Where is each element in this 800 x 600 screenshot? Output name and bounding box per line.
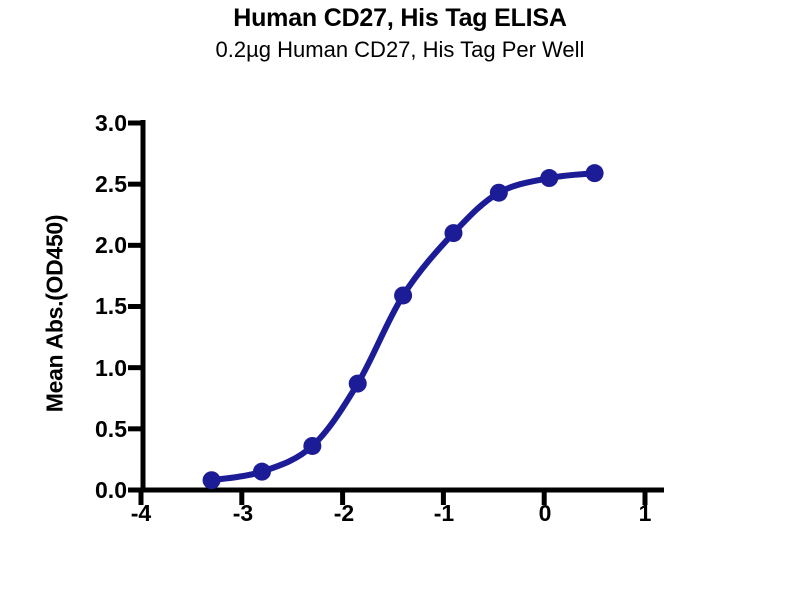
- data-point-marker: [444, 224, 462, 242]
- plot-area: [0, 0, 800, 600]
- data-point-marker: [394, 286, 412, 304]
- data-point-marker: [586, 164, 604, 182]
- data-curve: [212, 173, 595, 480]
- data-point-marker: [349, 375, 367, 393]
- data-point-marker: [540, 169, 558, 187]
- elisa-chart-figure: Human CD27, His Tag ELISA 0.2µg Human CD…: [0, 0, 800, 600]
- data-point-marker: [303, 437, 321, 455]
- data-point-marker: [203, 471, 221, 489]
- data-markers: [203, 164, 604, 489]
- data-point-marker: [253, 463, 271, 481]
- data-point-marker: [490, 184, 508, 202]
